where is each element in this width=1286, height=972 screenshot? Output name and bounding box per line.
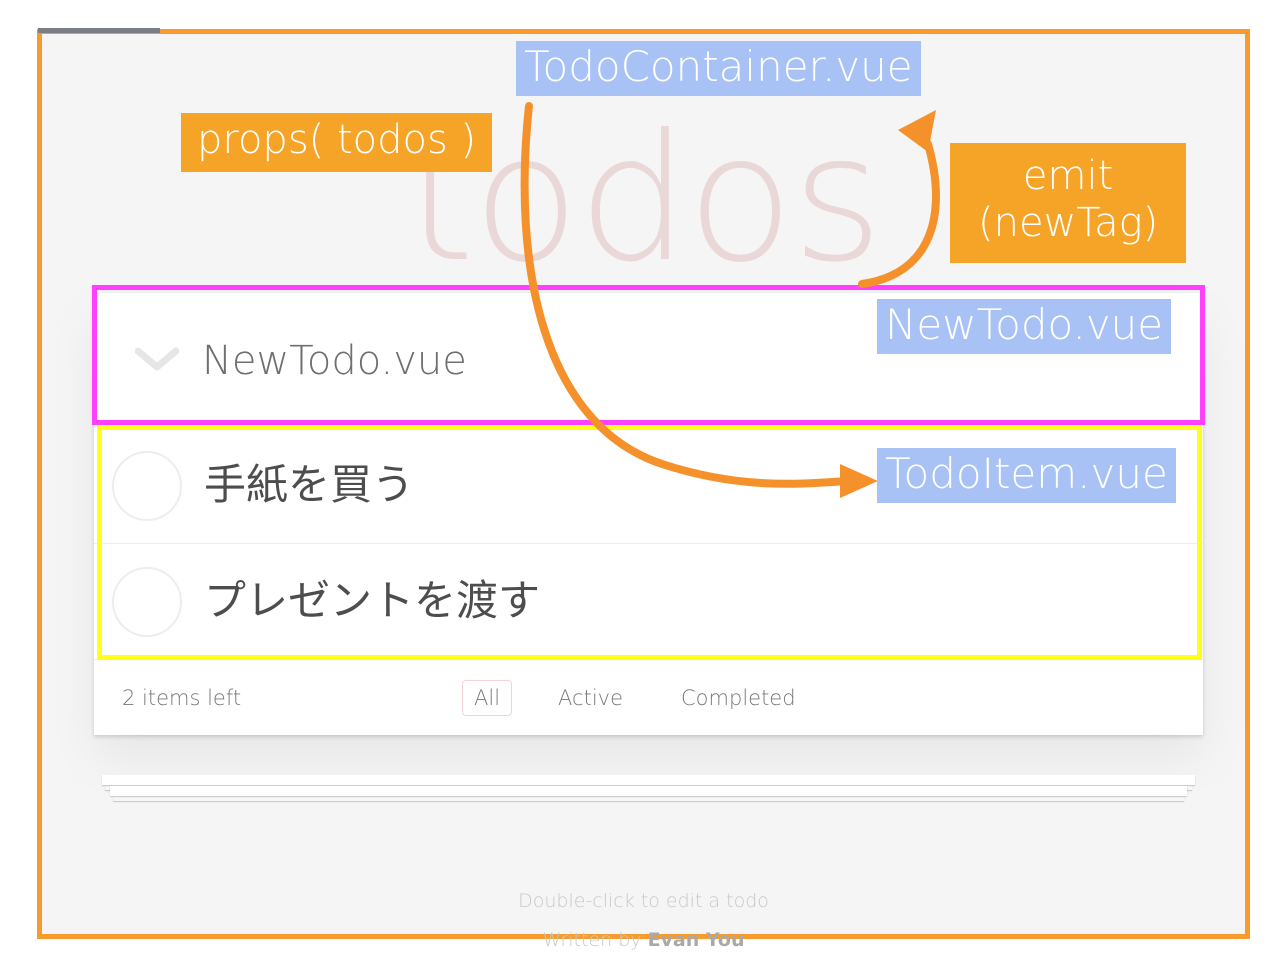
filter-all[interactable]: All: [462, 680, 512, 716]
browser-viewport-frame: todos 手紙を買う プレゼントを渡す: [37, 29, 1250, 939]
filter-active[interactable]: Active: [546, 680, 635, 716]
tag-emit: emit (newTag): [950, 143, 1186, 263]
info-hint: Double-click to edit a todo: [42, 892, 1245, 911]
info-author-name: Evan You: [648, 929, 745, 951]
tag-props: props( todos ): [181, 113, 492, 172]
todo-footer: 2 items left All Active Completed: [94, 660, 1203, 735]
tag-todoitem: TodoItem.vue: [877, 448, 1176, 503]
card-stack-layer: [110, 786, 1187, 796]
info-author-line: Written by Evan You: [42, 931, 1245, 950]
tag-emit-line1: emit: [1023, 153, 1113, 199]
page-load-bar: [38, 28, 160, 33]
tag-newtodo: NewTodo.vue: [877, 299, 1171, 354]
filter-completed[interactable]: Completed: [669, 680, 808, 716]
info-footer: Double-click to edit a todo Written by E…: [42, 892, 1245, 970]
tag-emit-line2: (newTag): [978, 200, 1158, 246]
card-stack-layer: [102, 775, 1195, 785]
tag-todocontainer: TodoContainer.vue: [516, 41, 921, 96]
info-author-prefix: Written by: [543, 929, 648, 951]
filter-list: All Active Completed: [94, 680, 1203, 716]
